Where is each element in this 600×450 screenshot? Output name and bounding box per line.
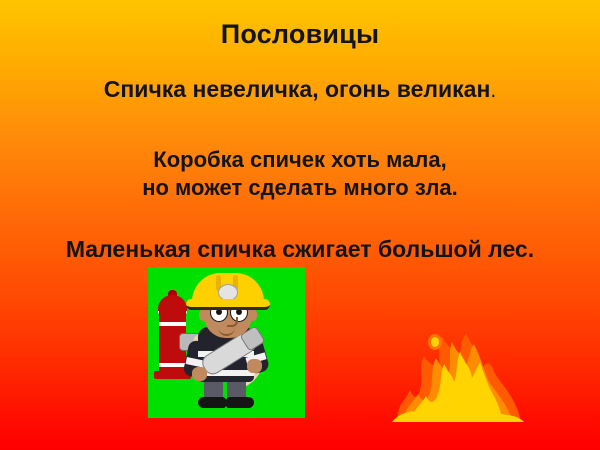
boot-right — [226, 397, 254, 408]
helmet-brim — [186, 299, 270, 310]
proverb-line-1: Спичка невеличка, огонь великан. — [0, 77, 600, 103]
proverb-2-line-2: но может сделать много зла. — [0, 176, 600, 201]
firefighter-image — [148, 267, 305, 418]
presentation-slide: Пословицы Спичка невеличка, огонь велика… — [0, 0, 600, 450]
hand-left — [192, 367, 207, 381]
flame-image — [390, 326, 526, 422]
page-title: Пословицы — [0, 19, 600, 49]
hand-right — [247, 359, 262, 373]
proverb-1-text: Спичка невеличка, огонь великан — [104, 76, 491, 102]
proverb-line-3: Маленькая спичка сжигает большой лес. — [0, 237, 600, 263]
proverb-line-2: Коробка спичек хоть мала, но может сдела… — [0, 148, 600, 200]
boot-left — [198, 397, 226, 408]
proverb-2-line-1: Коробка спичек хоть мала, — [153, 147, 446, 172]
proverb-1-period: . — [490, 79, 496, 102]
